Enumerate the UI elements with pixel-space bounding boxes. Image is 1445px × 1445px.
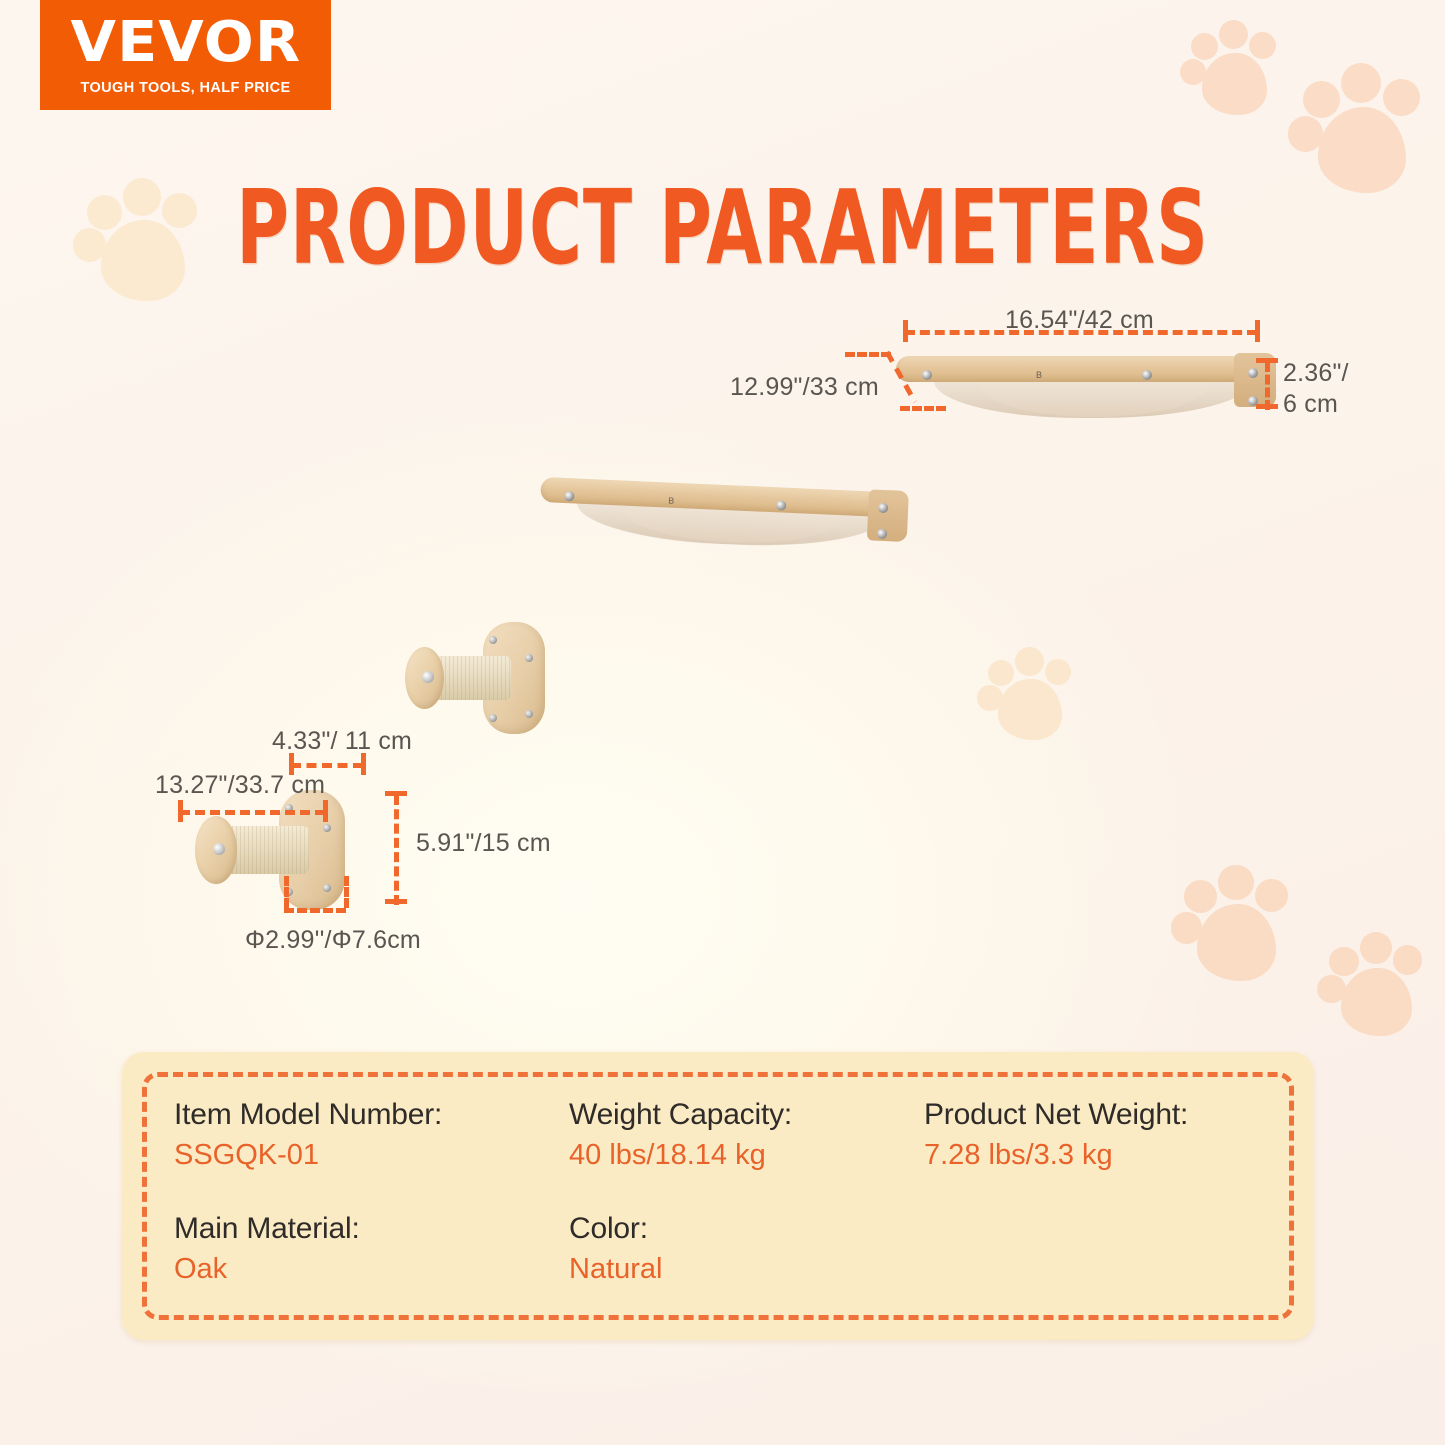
spec-label: Item Model Number: [174,1098,569,1132]
dimension-line-post-plate-height [394,795,399,905]
spec-label: Color: [569,1212,924,1246]
spec-item-weight-capacity: Weight Capacity: 40 lbs/18.14 kg [569,1098,924,1172]
dimension-line-diameter-left [284,876,289,908]
dimension-cap [1256,404,1278,409]
logo-tagline: TOUGH TOOLS, HALF PRICE [80,80,290,96]
spec-item-empty [924,1212,1274,1286]
product-specs-box: Item Model Number: SSGQK-01 Weight Capac… [122,1052,1314,1340]
dimension-cap [178,800,183,822]
hammock-mark-label: B [1036,370,1042,380]
paw-print-icon [975,645,1081,751]
screw-icon [1142,370,1152,380]
dimension-label-post-plate-height: 5.91"/15 cm [416,828,551,859]
product-image-scratching-post-upper [405,622,545,734]
hammock-mark-label: B [668,496,674,506]
screw-icon [323,884,331,892]
dimension-line-hammock-height [1265,362,1270,410]
spec-item-net-weight: Product Net Weight: 7.28 lbs/3.3 kg [924,1098,1274,1172]
spec-value: Natural [569,1253,924,1286]
screw-icon [489,636,497,644]
screw-icon [489,714,497,722]
spec-item-model-number: Item Model Number: SSGQK-01 [174,1098,569,1172]
dimension-cap [1256,358,1278,363]
screw-icon [525,654,533,662]
dimension-cap [323,800,328,822]
product-image-hammock-middle: B [539,470,909,548]
page-title: PRODUCT PARAMETERS [101,168,1344,288]
dimension-label-hammock-depth: 12.99"/33 cm [730,372,879,403]
dimension-label-post-plate-width: 4.33"/ 11 cm [272,726,412,757]
spec-value: 40 lbs/18.14 kg [569,1139,924,1172]
screw-icon [1248,368,1258,378]
screw-icon [525,710,533,718]
spec-label: Main Material: [174,1212,569,1246]
logo-wordmark: VEVOR [70,15,301,71]
dimension-line-diameter [284,908,346,913]
spec-value: 7.28 lbs/3.3 kg [924,1139,1274,1172]
paw-print-icon [1315,930,1433,1048]
dimension-cap [385,791,407,796]
dimension-cap [903,320,908,342]
dimension-label-hammock-width: 16.54"/42 cm [1005,305,1154,336]
screw-icon [323,824,331,832]
hammock-wall-bracket [866,489,909,542]
dimension-line-diameter-right [344,876,349,908]
post-center-bolt-icon [422,671,434,683]
dimension-line-post-length [180,810,325,815]
spec-item-color: Color: Natural [569,1212,924,1286]
dimension-label-post-diameter: Φ2.99''/Φ7.6cm [245,925,421,956]
vevor-logo: VEVOR TOUGH TOOLS, HALF PRICE [40,0,331,110]
spec-value: SSGQK-01 [174,1139,569,1172]
dimension-cap [385,899,407,904]
dimension-line-post-plate-width [291,763,363,768]
spec-label: Weight Capacity: [569,1098,924,1132]
spec-item-main-material: Main Material: Oak [174,1212,569,1286]
dimension-label-hammock-height: 2.36"/ 6 cm [1283,358,1349,419]
paw-print-icon [1178,18,1286,126]
specs-grid: Item Model Number: SSGQK-01 Weight Capac… [174,1098,1274,1286]
post-center-bolt-icon [213,843,225,855]
dimension-label-post-length: 13.27"/33.7 cm [155,770,325,801]
paw-print-icon [1168,862,1300,994]
spec-label: Product Net Weight: [924,1098,1274,1132]
dimension-cap [1255,320,1260,342]
spec-value: Oak [174,1253,569,1286]
